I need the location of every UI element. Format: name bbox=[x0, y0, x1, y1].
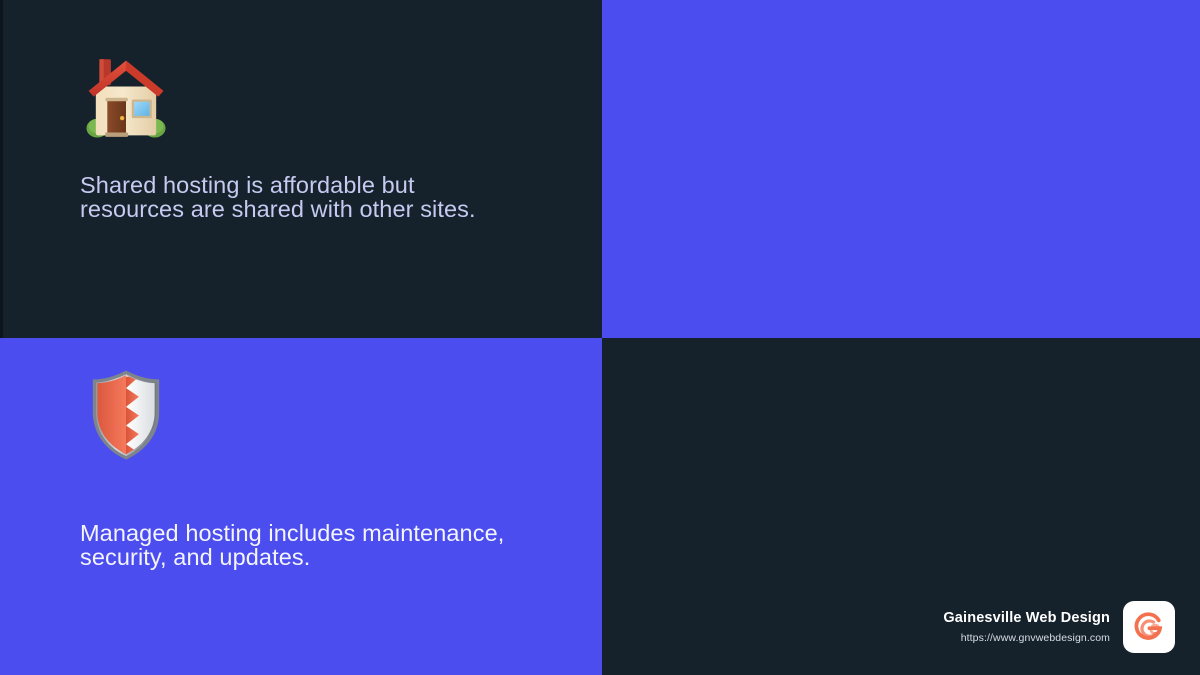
frame-left-edge bbox=[0, 0, 3, 338]
branding: Gainesville Web Design https://www.gnvwe… bbox=[943, 601, 1175, 653]
panel-vps-hosting: VPS hosting offers dedicated resources i… bbox=[602, 0, 1200, 338]
shield-icon bbox=[80, 368, 172, 460]
panel-managed-hosting: Managed hosting includes maintenance, se… bbox=[0, 338, 602, 675]
brand-name: Gainesville Web Design bbox=[943, 609, 1110, 627]
quadrant-grid: Shared hosting is affordable but resourc… bbox=[0, 0, 1200, 675]
brand-url: https://www.gnvwebdesign.com bbox=[961, 632, 1110, 645]
branding-texts: Gainesville Web Design https://www.gnvwe… bbox=[943, 609, 1110, 644]
house-icon bbox=[80, 52, 172, 144]
panel-text-managed-hosting: Managed hosting includes maintenance, se… bbox=[80, 522, 510, 569]
brand-logo-tile[interactable] bbox=[1123, 601, 1175, 653]
panel-text-shared-hosting: Shared hosting is affordable but resourc… bbox=[80, 174, 510, 221]
gnv-g-swirl-logo-icon bbox=[1132, 610, 1166, 644]
slide-canvas: Shared hosting is affordable but resourc… bbox=[0, 0, 1200, 675]
panel-shared-hosting: Shared hosting is affordable but resourc… bbox=[0, 0, 602, 338]
